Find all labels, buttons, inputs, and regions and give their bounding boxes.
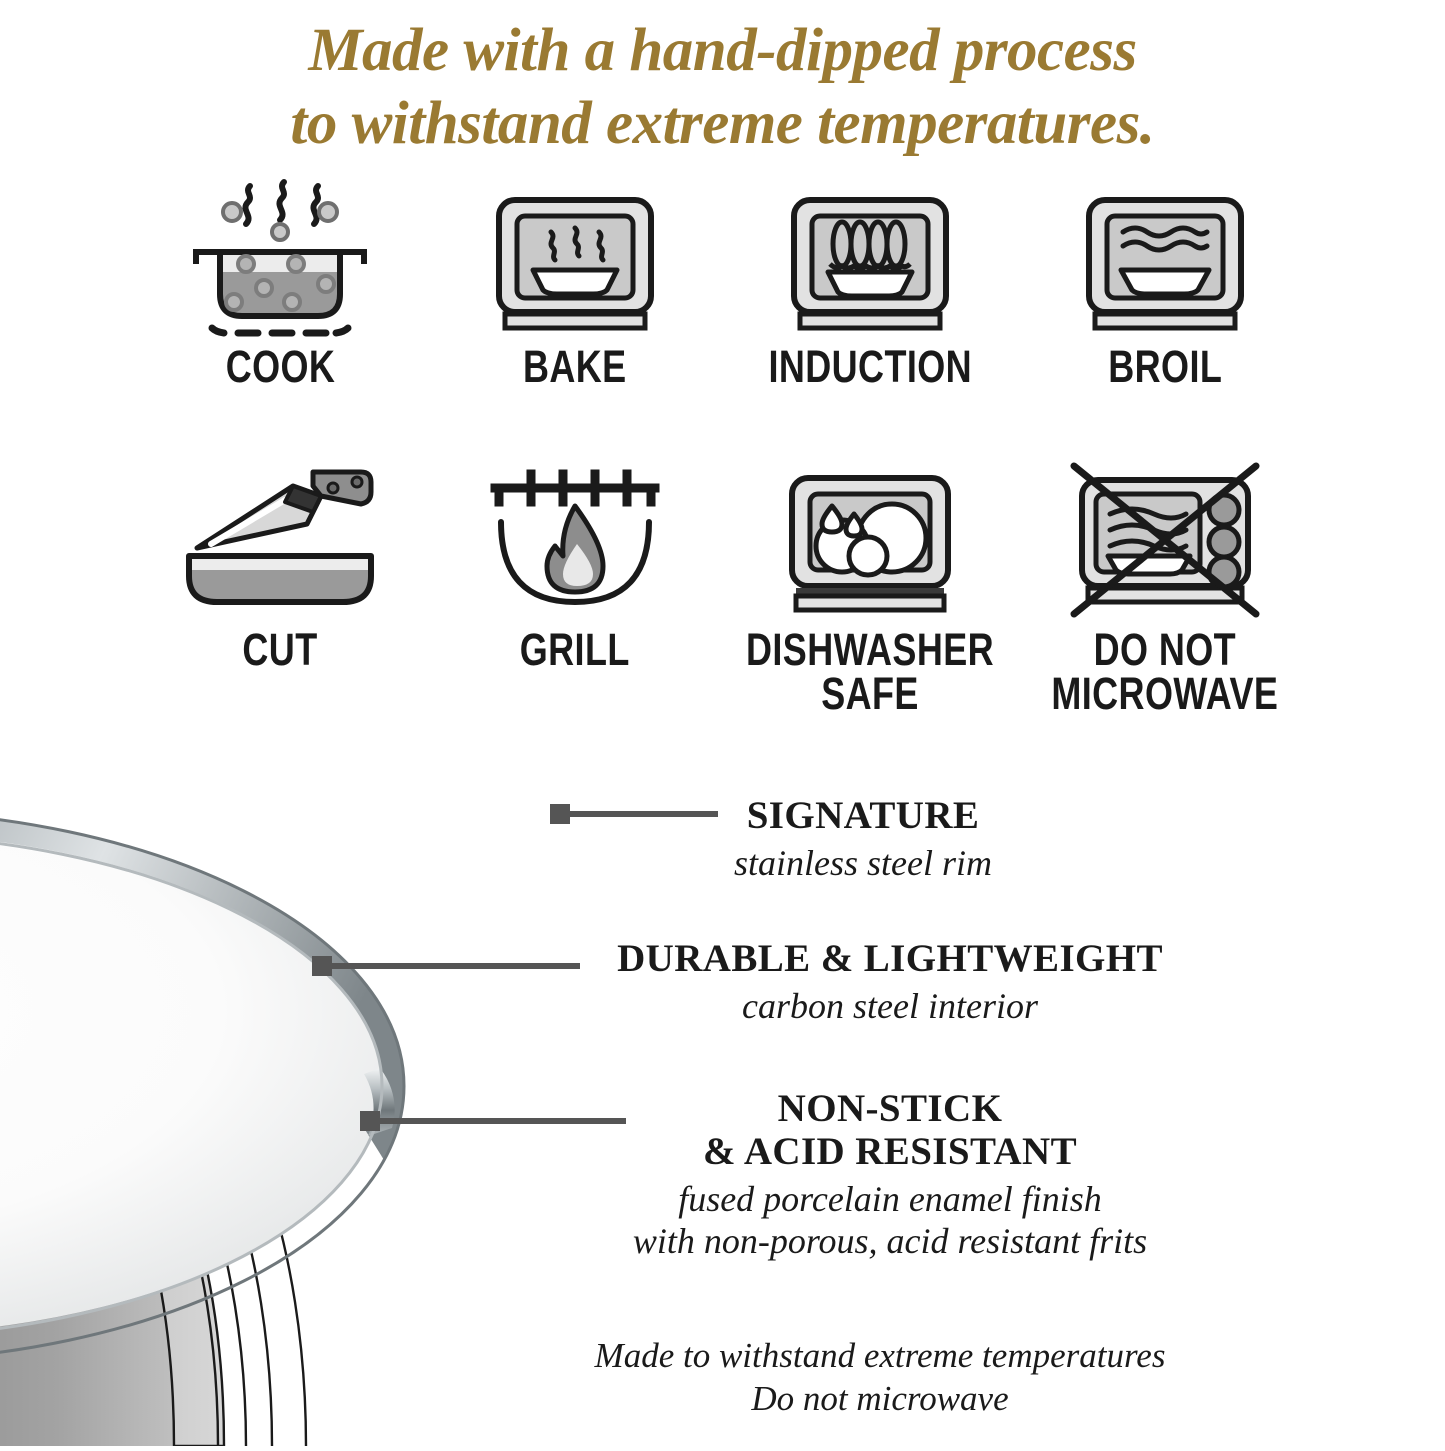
- icon-cell-dishwasher-safe: DISHWASHER SAFE: [723, 452, 1018, 717]
- page-title: Made with a hand-dipped process to withs…: [0, 14, 1445, 160]
- footer-line-1: Made to withstand extreme temperatures: [595, 1336, 1166, 1375]
- leader-dot-nonstick: [360, 1111, 380, 1131]
- icon-cell-induction: INDUCTION: [723, 176, 1018, 390]
- headline-line-2: to withstand extreme temperatures.: [0, 87, 1445, 160]
- leader-dot-durable: [312, 956, 332, 976]
- icon-cell-cook: COOK: [133, 176, 428, 390]
- icon-label-bake: BAKE: [523, 345, 627, 390]
- icon-label-dishwasher-safe: DISHWASHER SAFE: [746, 628, 994, 717]
- callout-signature-heading: SIGNATURE: [593, 795, 1133, 838]
- cut-icon: [175, 452, 385, 624]
- cook-icon: [180, 176, 380, 341]
- callout-nonstick-heading: NON-STICK & ACID RESISTANT: [520, 1088, 1260, 1174]
- icon-cell-bake: BAKE: [428, 176, 723, 390]
- footer-note: Made to withstand extreme temperatures D…: [480, 1335, 1280, 1420]
- icon-label-induction: INDUCTION: [768, 345, 972, 390]
- callout-signature-subtitle: stainless steel rim: [593, 843, 1133, 885]
- icon-cell-do-not-microwave: DO NOT MICROWAVE: [1018, 452, 1313, 717]
- do-not-microwave-icon: [1060, 452, 1270, 624]
- headline-line-1: Made with a hand-dipped process: [308, 17, 1136, 84]
- cookware-illustration: [0, 616, 604, 1446]
- callout-signature: SIGNATURE stainless steel rim: [593, 795, 1133, 885]
- icon-label-broil: BROIL: [1108, 345, 1222, 390]
- callout-durable: DURABLE & LIGHTWEIGHT carbon steel inter…: [570, 938, 1210, 1028]
- footer-line-2: Do not microwave: [480, 1378, 1280, 1421]
- icon-label-do-not-microwave: DO NOT MICROWAVE: [1052, 628, 1279, 717]
- grill-icon: [475, 452, 675, 624]
- leader-dot-signature: [550, 804, 570, 824]
- icon-label-cook: COOK: [225, 345, 335, 390]
- icon-row-1: COOK: [133, 176, 1313, 390]
- callout-nonstick-subtitle: fused porcelain enamel finish with non-p…: [520, 1179, 1260, 1263]
- infographic-root: Made with a hand-dipped process to withs…: [0, 0, 1445, 1445]
- icon-cell-broil: BROIL: [1018, 176, 1313, 390]
- bake-icon: [475, 176, 675, 341]
- callout-durable-subtitle: carbon steel interior: [570, 986, 1210, 1028]
- induction-icon: [770, 176, 970, 341]
- leader-line-durable: [318, 963, 580, 969]
- dishwasher-safe-icon: [770, 452, 970, 624]
- callout-nonstick: NON-STICK & ACID RESISTANT fused porcela…: [520, 1088, 1260, 1262]
- broil-icon: [1065, 176, 1265, 341]
- callout-durable-heading: DURABLE & LIGHTWEIGHT: [570, 938, 1210, 981]
